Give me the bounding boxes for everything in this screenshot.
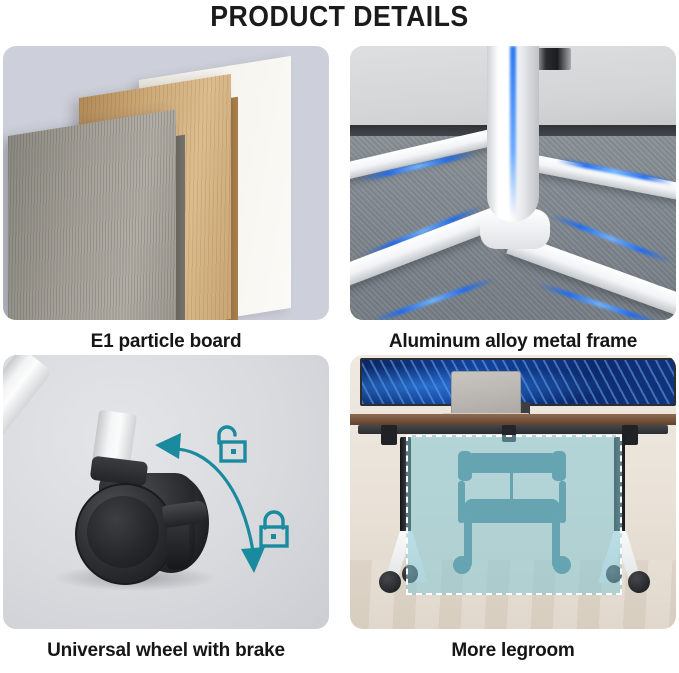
caption-more-legroom: More legroom: [350, 637, 676, 665]
detail-card-more-legroom[interactable]: More legroom: [350, 355, 676, 665]
caster-collar: [90, 456, 149, 487]
panel-image-particle-boards: [3, 46, 329, 320]
caption-e1-particle-board: E1 particle board: [3, 328, 329, 356]
column-led-highlight: [510, 46, 516, 218]
page-title: PRODUCT DETAILS: [27, 1, 652, 34]
product-details-grid: E1 particle board Aluminum alloy metal f…: [0, 46, 679, 673]
detail-card-aluminum-alloy-metal-frame[interactable]: Aluminum alloy metal frame: [350, 46, 676, 356]
laptop: [451, 371, 521, 417]
desktop-surface: [350, 414, 676, 425]
lock-icon: [255, 508, 295, 550]
unlock-icon: [209, 423, 249, 465]
panel-image-legroom: [350, 355, 676, 629]
legroom-highlight-area: [406, 435, 622, 595]
detail-card-universal-wheel[interactable]: Universal wheel with brake: [3, 355, 329, 665]
desk-caster-left-front: [379, 571, 401, 593]
caption-universal-wheel-with-brake: Universal wheel with brake: [3, 637, 329, 665]
frame-clamp-bracket: [535, 48, 571, 70]
caption-aluminum-alloy-metal-frame: Aluminum alloy metal frame: [350, 328, 676, 356]
desk-bracket-left: [381, 425, 397, 445]
panel-image-caster-wheel: [3, 355, 329, 629]
caster-wheel-hub: [87, 496, 159, 568]
desk-caster-right-front: [628, 571, 650, 593]
desk-leg-tube: [3, 355, 53, 474]
detail-card-e1-particle-board[interactable]: E1 particle board: [3, 46, 329, 356]
panel-image-metal-frame: [350, 46, 676, 320]
grey-board: [8, 109, 176, 320]
